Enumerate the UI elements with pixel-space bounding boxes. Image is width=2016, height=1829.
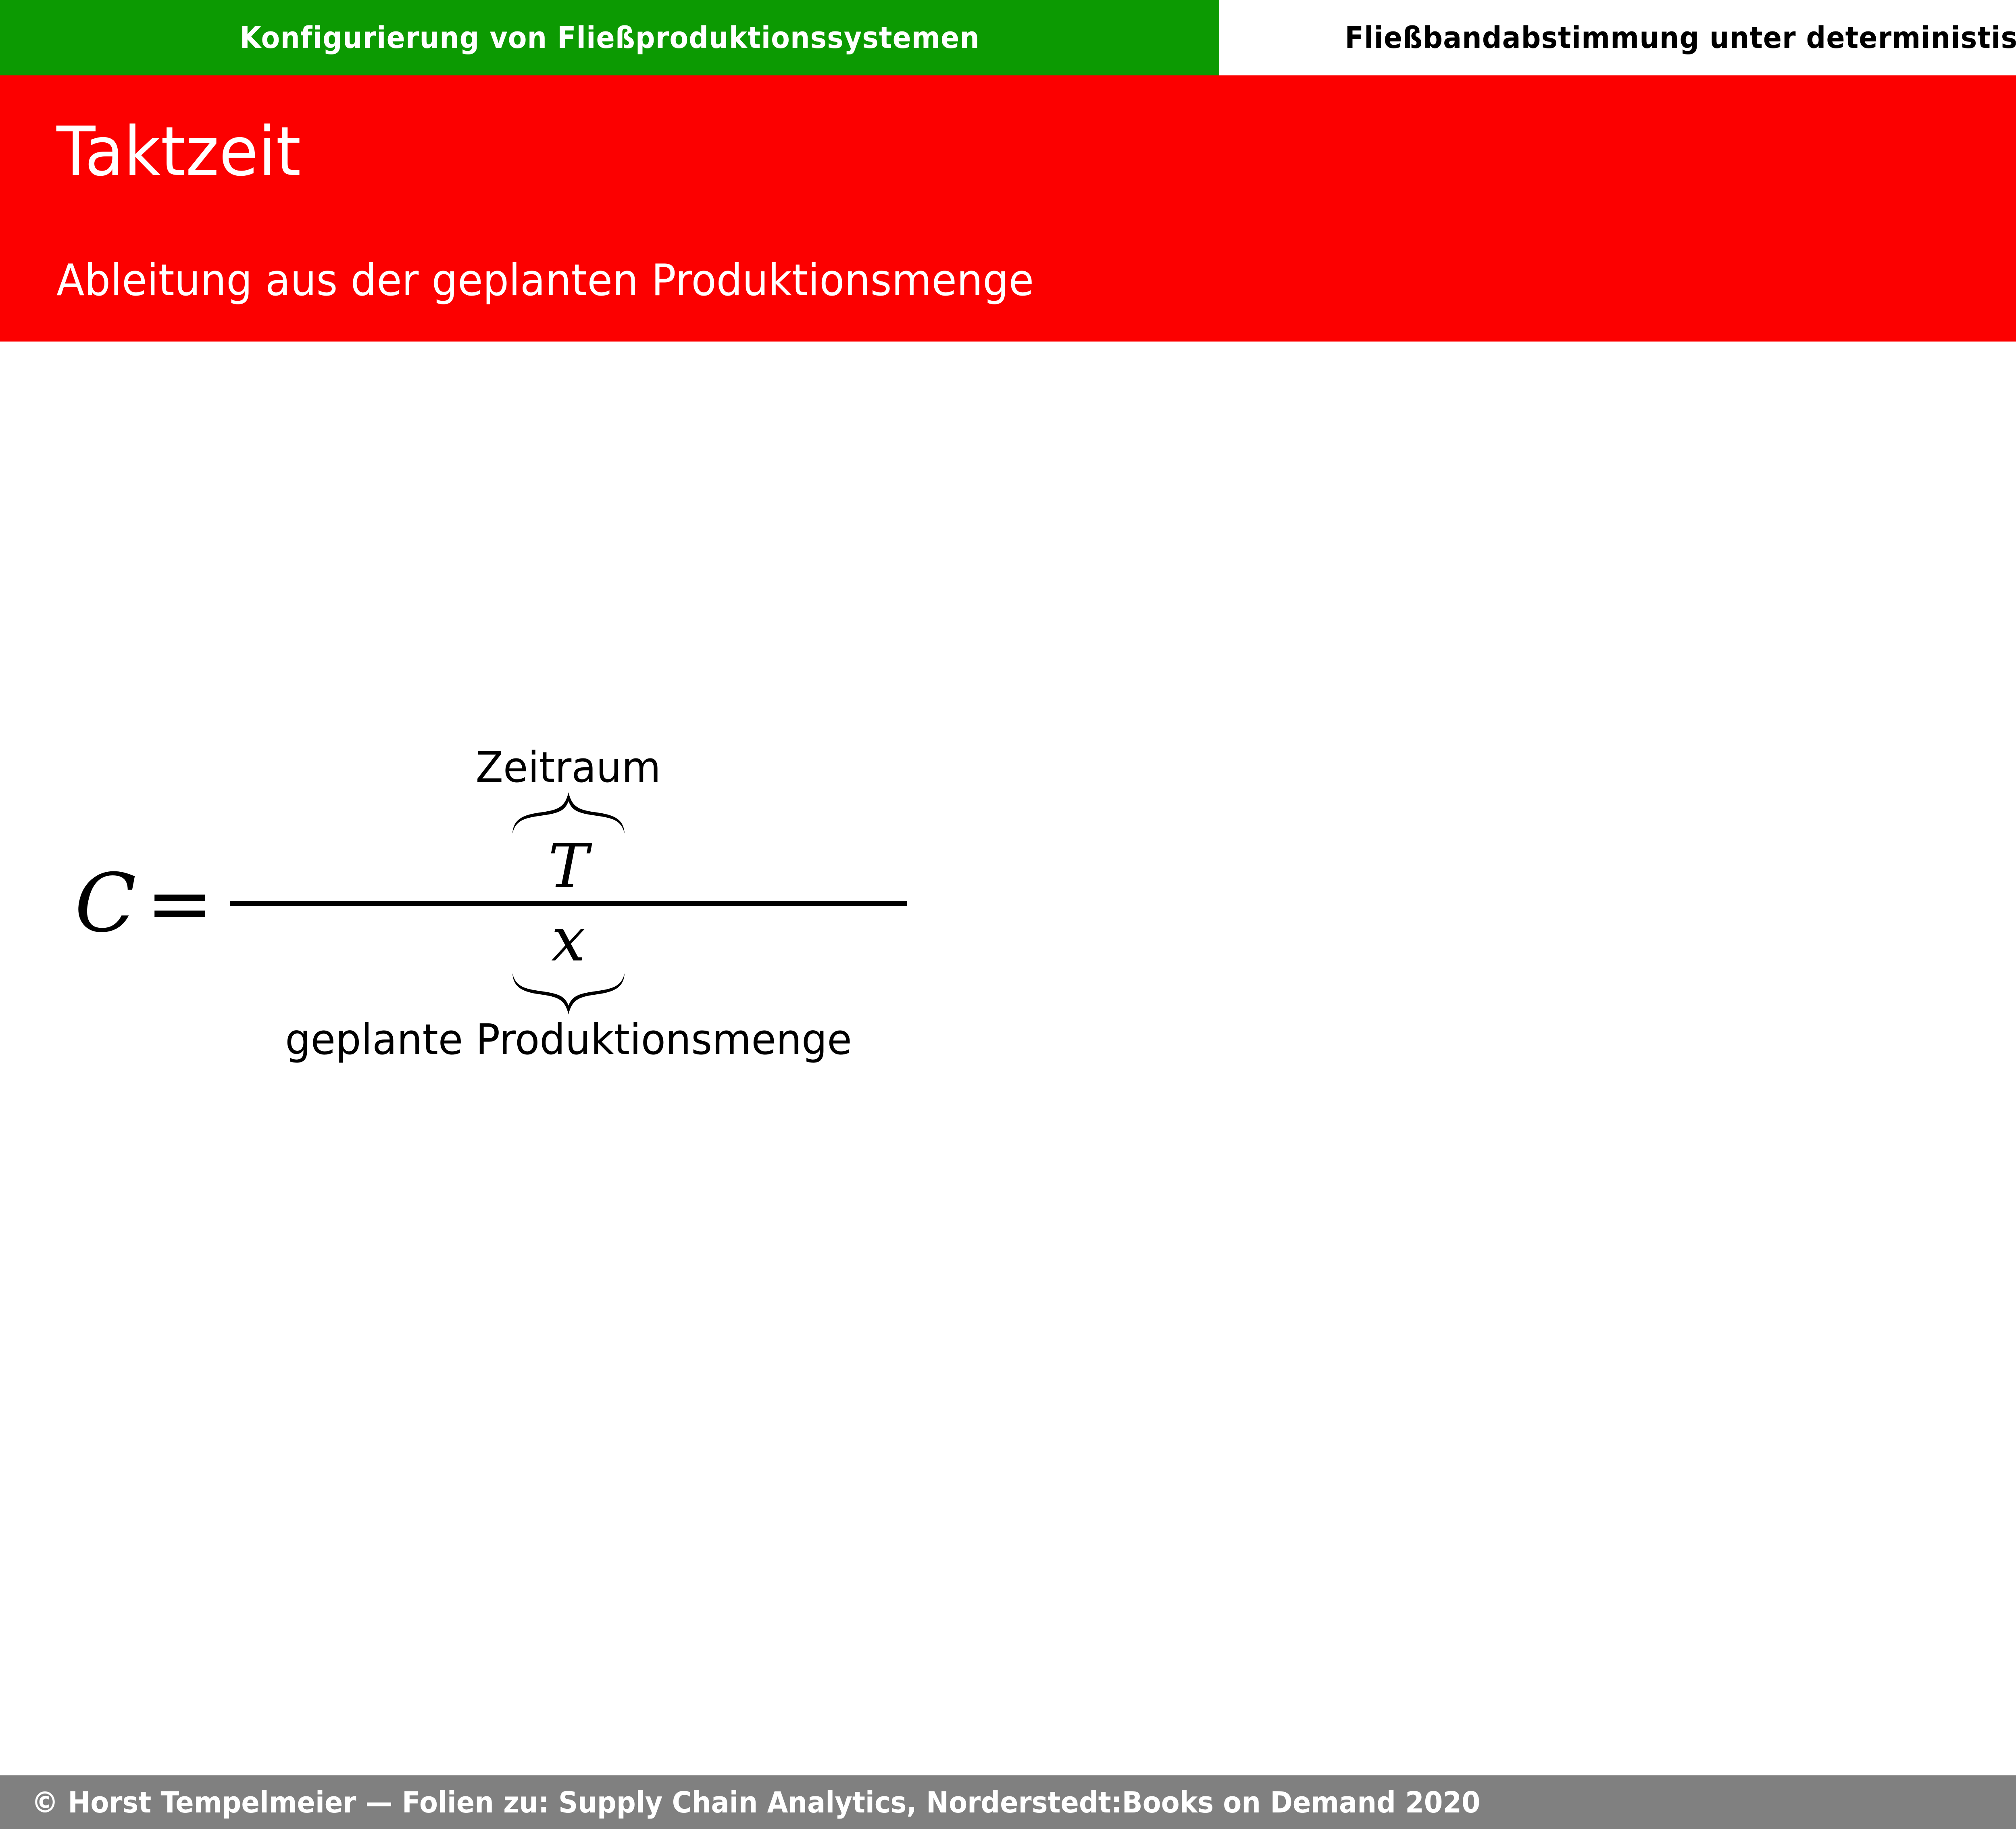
slide-title-block: Taktzeit Ableitung aus der geplanten Pro… (0, 75, 2016, 342)
formula-lhs-symbol: C (75, 863, 146, 944)
page-title: Taktzeit (56, 118, 301, 185)
formula-equals-sign: = (146, 863, 230, 944)
footer-credit: © Horst Tempelmeier — Folien zu: Supply … (31, 1785, 1481, 1819)
copyright-icon: © (31, 1785, 58, 1819)
header-section-label: Konfigurierung von Fließproduktionssyste… (240, 21, 979, 55)
page-subtitle: Ableitung aus der geplanten Produktionsm… (56, 259, 1034, 302)
denominator-symbol: x (551, 908, 585, 972)
footer-credit-text: Horst Tempelmeier — Folien zu: Supply Ch… (68, 1785, 1480, 1819)
slide-content-area: C = Zeitraum T x geplante Produktionsmen… (0, 342, 2016, 1775)
numerator-symbol: T (548, 835, 589, 899)
underbrace-label: geplante Produktionsmenge (285, 1017, 852, 1062)
header-navigation-bar: Konfigurierung von Fließproduktionssyste… (0, 0, 2016, 75)
underbrace-icon (510, 972, 627, 1017)
header-section-tab[interactable]: Konfigurierung von Fließproduktionssyste… (0, 0, 1219, 75)
formula-fraction: Zeitraum T x geplante Produktionsmenge (230, 745, 907, 1062)
slide-footer: © Horst Tempelmeier — Folien zu: Supply … (0, 1775, 2016, 1829)
header-subsection-label: Fließbandabstimmung unter deterministisc… (1345, 21, 2016, 55)
overbrace-label: Zeitraum (476, 745, 661, 790)
overbrace-icon (510, 790, 627, 835)
fraction-numerator: Zeitraum T (230, 745, 907, 899)
fraction-denominator: x geplante Produktionsmenge (230, 908, 907, 1062)
header-subsection-tab[interactable]: Fließbandabstimmung unter deterministisc… (1219, 0, 2016, 75)
taktzeit-formula: C = Zeitraum T x geplante Produktionsmen… (75, 745, 907, 1062)
